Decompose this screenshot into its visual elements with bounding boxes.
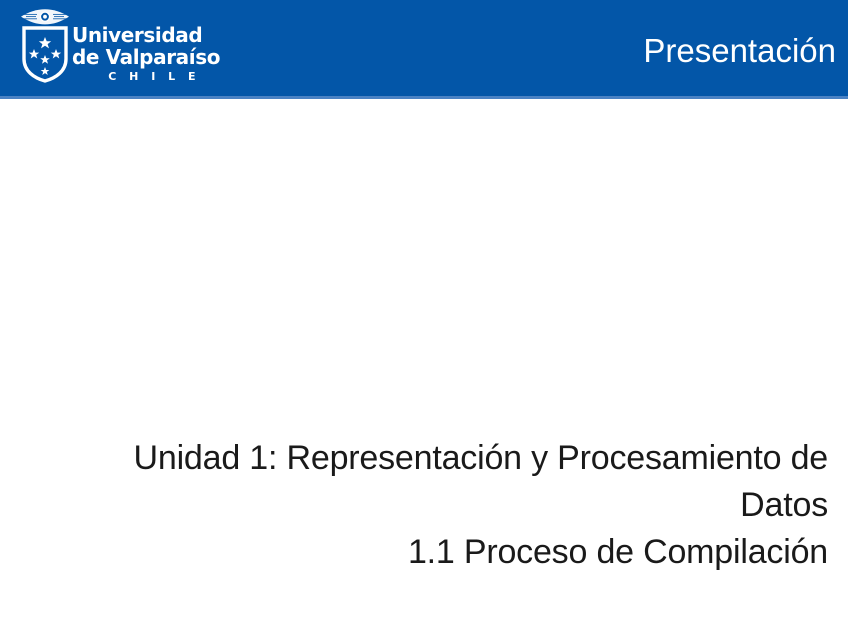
slide-body: Unidad 1: Representación y Procesamiento… — [0, 99, 848, 636]
slide-title-block: Unidad 1: Representación y Procesamiento… — [20, 435, 828, 576]
header-title: Presentación — [643, 32, 836, 70]
logo-line-universidad: Universidad — [72, 24, 202, 46]
logo-line-chile: C H I L E — [72, 68, 202, 86]
shield-with-southern-cross-icon — [21, 25, 69, 83]
university-logo-text: Universidad de Valparaíso C H I L E — [72, 24, 202, 86]
slide-title-line-3: 1.1 Proceso de Compilación — [20, 529, 828, 576]
university-logo: Universidad de Valparaíso C H I L E — [14, 6, 204, 92]
winged-eye-emblem-icon — [20, 8, 70, 26]
logo-line-valparaiso: de Valparaíso — [72, 46, 202, 68]
presentation-slide: Universidad de Valparaíso C H I L E Pres… — [0, 0, 848, 636]
slide-title-line-1: Unidad 1: Representación y Procesamiento… — [20, 435, 828, 482]
slide-title-line-2: Datos — [20, 482, 828, 529]
